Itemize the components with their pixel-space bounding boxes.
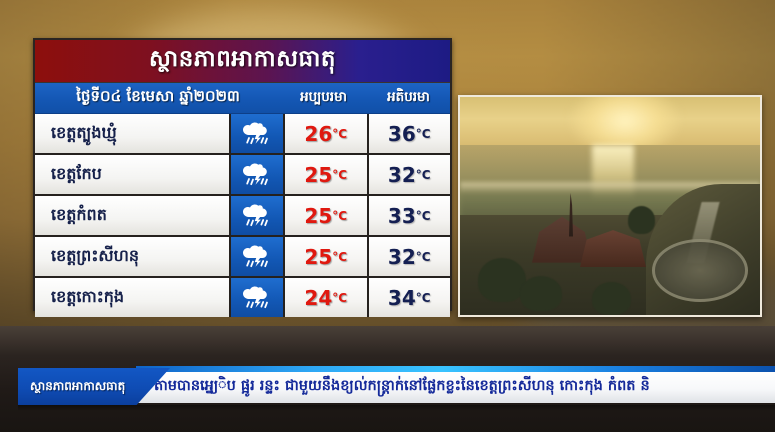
- min-temp-unit: °C: [332, 168, 347, 182]
- max-temp-value: 32: [388, 245, 416, 269]
- table-header-row: ថ្ងៃទី០៤ ខែមេសា ឆ្នាំ២០២៣ អប្បបរមា អតិបរ…: [35, 83, 450, 114]
- ticker-shadow: [18, 405, 775, 411]
- weather-rows: ខេត្តត្បូងឃ្មុំ 26°C36°Cខេត្តកែប 25°C32°…: [35, 114, 450, 317]
- cell-province: ខេត្តកោះកុង: [35, 278, 231, 317]
- thunderstorm-rain-icon: [239, 243, 275, 271]
- cell-weather-icon: [231, 196, 285, 235]
- photo-tree: [592, 282, 631, 315]
- cell-min-temp: 24°C: [285, 278, 369, 317]
- table-row: ខេត្តព្រះសីហនុ 25°C32°C: [35, 237, 450, 278]
- max-temp-value: 34: [388, 286, 416, 310]
- cell-weather-icon: [231, 278, 285, 317]
- cell-max-temp: 36°C: [369, 114, 451, 153]
- cell-max-temp: 34°C: [369, 278, 451, 317]
- photo-tree: [478, 258, 526, 302]
- cell-province: ខេត្តកំពត: [35, 196, 231, 235]
- photo-roundabout: [652, 239, 748, 302]
- cell-weather-icon: [231, 114, 285, 153]
- cell-min-temp: 25°C: [285, 155, 369, 194]
- max-temp-unit: °C: [416, 168, 431, 182]
- max-temp-value: 36: [388, 122, 416, 146]
- table-row: ខេត្តកោះកុង 24°C34°C: [35, 278, 450, 317]
- header-date: ថ្ងៃទី០៤ ខែមេសា ឆ្នាំ២០២៣: [35, 87, 281, 109]
- header-max-label: អតិបរមា: [366, 88, 451, 108]
- min-temp-value: 26: [304, 122, 332, 146]
- weather-panel: ស្ថានភាពអាកាសធាតុ ថ្ងៃទី០៤ ខែមេសា ឆ្នាំ២…: [33, 38, 452, 311]
- news-photo: [458, 95, 762, 317]
- photo-tree: [520, 276, 562, 311]
- photo-content: [460, 97, 760, 315]
- cell-weather-icon: [231, 155, 285, 194]
- cell-max-temp: 32°C: [369, 237, 451, 276]
- page-title: ស្ថានភាពអាកាសធាតុ: [149, 45, 336, 78]
- table-row: ខេត្តកំពត 25°C33°C: [35, 196, 450, 237]
- thunderstorm-rain-icon: [239, 120, 275, 148]
- cell-min-temp: 25°C: [285, 237, 369, 276]
- max-temp-value: 33: [388, 204, 416, 228]
- max-temp-unit: °C: [416, 250, 431, 264]
- thunderstorm-rain-icon: [239, 202, 275, 230]
- min-temp-value: 24: [304, 286, 332, 310]
- min-temp-unit: °C: [332, 127, 347, 141]
- max-temp-unit: °C: [416, 127, 431, 141]
- max-temp-unit: °C: [416, 209, 431, 223]
- broadcast-screen: ស្ថានភាពអាកាសធាតុ ថ្ងៃទី០៤ ខែមេសា ឆ្នាំ២…: [0, 0, 775, 432]
- cell-min-temp: 26°C: [285, 114, 369, 153]
- thunderstorm-rain-icon: [239, 284, 275, 312]
- min-temp-unit: °C: [332, 209, 347, 223]
- news-ticker: តាមបានអ្នេ្យិប ផ្អូរ រន្ទះ ជាមួយនឹងខ្យល់…: [18, 366, 775, 406]
- cell-province: ខេត្តព្រះសីហនុ: [35, 237, 231, 276]
- max-temp-unit: °C: [416, 291, 431, 305]
- panel-title-bar: ស្ថានភាពអាកាសធាតុ: [35, 40, 450, 83]
- min-temp-unit: °C: [332, 250, 347, 264]
- min-temp-unit: °C: [332, 291, 347, 305]
- max-temp-value: 32: [388, 163, 416, 187]
- ticker-text-strip: តាមបានអ្នេ្យិប ផ្អូរ រន្ទះ ជាមួយនឹងខ្យល់…: [136, 372, 775, 403]
- thunderstorm-rain-icon: [239, 161, 275, 189]
- min-temp-value: 25: [304, 245, 332, 269]
- ticker-label-text: ស្ថានភាពអាកាសធាតុ: [18, 378, 125, 396]
- cell-min-temp: 25°C: [285, 196, 369, 235]
- cell-province: ខេត្តត្បូងឃ្មុំ: [35, 114, 231, 153]
- min-temp-value: 25: [304, 204, 332, 228]
- table-row: ខេត្តកែប 25°C32°C: [35, 155, 450, 196]
- cell-max-temp: 33°C: [369, 196, 451, 235]
- cell-weather-icon: [231, 237, 285, 276]
- cell-province: ខេត្តកែប: [35, 155, 231, 194]
- min-temp-value: 25: [304, 163, 332, 187]
- ticker-text: តាមបានអ្នេ្យិប ផ្អូរ រន្ទះ ជាមួយនឹងខ្យល់…: [136, 377, 650, 398]
- cell-max-temp: 32°C: [369, 155, 451, 194]
- header-min-label: អប្បបរមា: [281, 88, 366, 108]
- table-row: ខេត្តត្បូងឃ្មុំ 26°C36°C: [35, 114, 450, 155]
- photo-tree: [628, 206, 655, 234]
